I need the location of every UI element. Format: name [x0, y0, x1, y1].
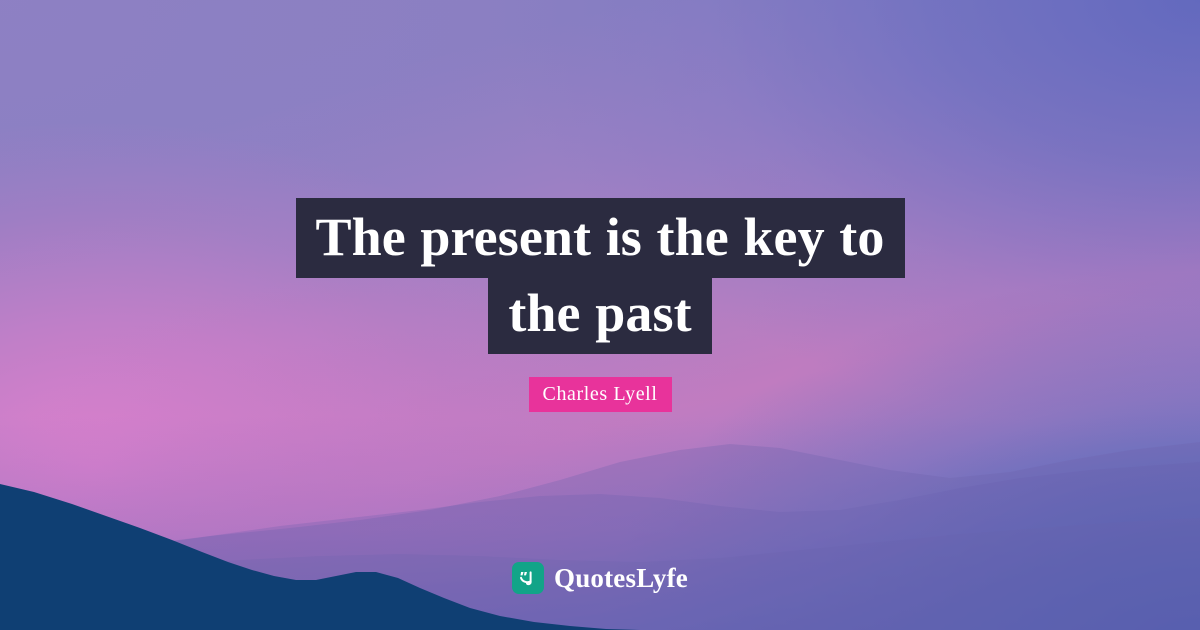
author-badge: Charles Lyell: [529, 377, 672, 412]
quote-content: The present is the key to the past Charl…: [0, 0, 1200, 630]
quote-smiley-icon: [512, 562, 544, 594]
quote-text-span: The present is the key to the past: [296, 198, 905, 354]
brand-logo: QuotesLyfe: [0, 562, 1200, 594]
author-row: Charles Lyell: [529, 377, 672, 412]
quote-card: The present is the key to the past Charl…: [0, 0, 1200, 630]
brand-name: QuotesLyfe: [554, 565, 688, 592]
quote-text: The present is the key to the past: [265, 200, 935, 351]
